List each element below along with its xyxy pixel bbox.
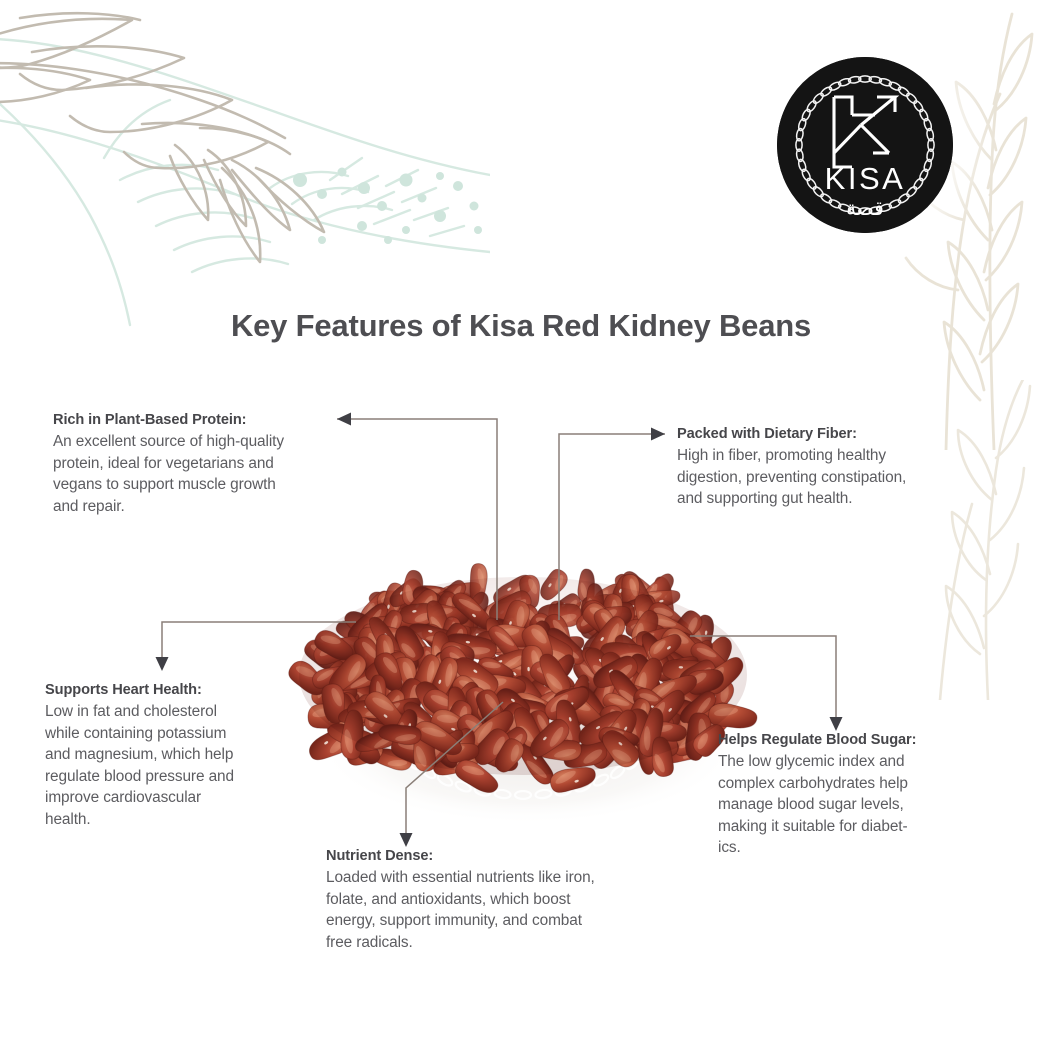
feature-title-fiber: Packed with Dietary Fiber: [677,426,1007,442]
feature-body-protein: An excellent source of high-quality prot… [53,431,373,517]
connector-fiber [559,434,665,620]
connector-heart [162,622,356,660]
arrowhead-fiber [651,428,665,441]
feature-block-heart: Supports Heart Health: Low in fat and ch… [45,682,325,830]
feature-body-heart: Low in fat and cholesterol while contain… [45,701,325,830]
feature-block-fiber: Packed with Dietary Fiber: High in fiber… [677,426,1007,510]
arrowhead-nutrient [400,833,413,847]
feature-body-nutrient: Loaded with essential nutrients like iro… [326,867,686,953]
feature-block-sugar: Helps Regulate Blood Sugar: The low glyc… [718,732,1008,859]
arrowhead-heart [156,657,169,671]
feature-title-nutrient: Nutrient Dense: [326,848,686,864]
feature-body-fiber: High in fiber, promoting healthy digesti… [677,445,1007,510]
feature-title-protein: Rich in Plant-Based Protein: [53,412,373,428]
feature-body-sugar: The low glycemic index and complex carbo… [718,751,1008,859]
connector-nutrient [406,702,503,836]
infographic-canvas: KISA قصة Key Features of Kisa Red Kidney… [0,0,1042,1042]
feature-title-heart: Supports Heart Health: [45,682,325,698]
connector-sugar [690,636,836,720]
arrowhead-sugar [830,717,843,731]
feature-title-sugar: Helps Regulate Blood Sugar: [718,732,1008,748]
feature-block-protein: Rich in Plant-Based Protein: An excellen… [53,412,373,517]
feature-block-nutrient: Nutrient Dense: Loaded with essential nu… [326,848,686,953]
